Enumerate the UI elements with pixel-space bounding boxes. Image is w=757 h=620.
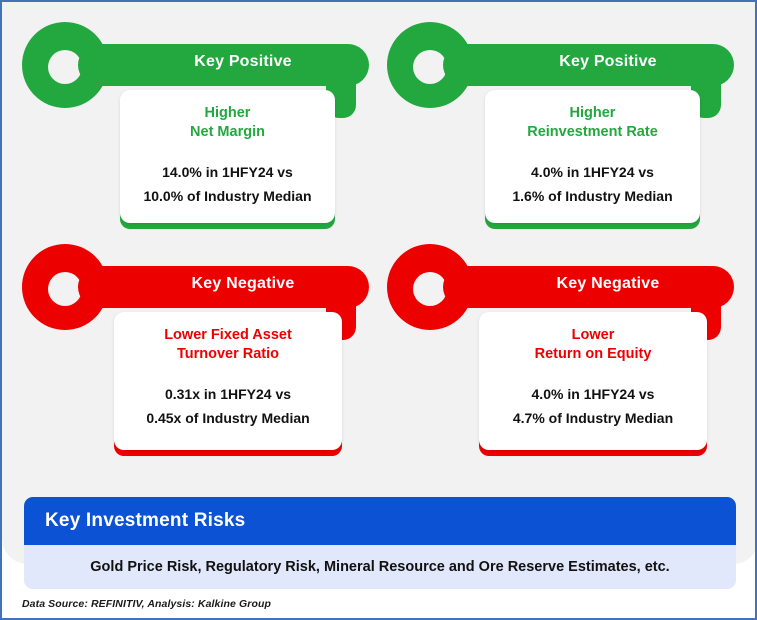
card-body: Lower Fixed Asset Turnover Ratio 0.31x i… (114, 312, 342, 450)
card-stat: 4.0% in 1HFY24 vs 1.6% of Industry Media… (512, 160, 672, 208)
card-title: Key Positive (118, 53, 368, 71)
card-heading: Lower Return on Equity (535, 326, 652, 364)
card-title: Key Negative (483, 275, 733, 293)
key-investment-risks: Key Investment Risks Gold Price Risk, Re… (24, 497, 736, 589)
key-bow-hole (413, 272, 447, 306)
metric-card-reinvestment-rate: Key Positive Higher Reinvestment Rate 4.… (387, 20, 734, 240)
metric-card-return-on-equity: Key Negative Lower Return on Equity 4.0%… (387, 242, 734, 462)
card-heading: Lower Fixed Asset Turnover Ratio (164, 326, 292, 364)
key-bow-shape (387, 22, 473, 108)
card-stat: 0.31x in 1HFY24 vs 0.45x of Industry Med… (146, 382, 309, 430)
risks-body: Gold Price Risk, Regulatory Risk, Minera… (24, 545, 736, 589)
card-stat: 14.0% in 1HFY24 vs 10.0% of Industry Med… (143, 160, 311, 208)
metric-card-net-margin: Key Positive Higher Net Margin 14.0% in … (22, 20, 369, 240)
key-bow-hole (48, 50, 82, 84)
key-bow-hole (48, 272, 82, 306)
card-body: Lower Return on Equity 4.0% in 1HFY24 vs… (479, 312, 707, 450)
card-stat: 4.0% in 1HFY24 vs 4.7% of Industry Media… (513, 382, 673, 430)
key-bow-shape (22, 22, 108, 108)
key-bow-hole (413, 50, 447, 84)
card-heading: Higher Reinvestment Rate (527, 104, 658, 142)
data-source-note: Data Source: REFINITIV, Analysis: Kalkin… (22, 598, 271, 610)
card-title: Key Negative (118, 275, 368, 293)
key-bow-shape (387, 244, 473, 330)
key-bow-shape (22, 244, 108, 330)
risks-header: Key Investment Risks (24, 497, 736, 545)
card-title: Key Positive (483, 53, 733, 71)
card-heading: Higher Net Margin (190, 104, 265, 142)
infographic-root: Key Positive Higher Net Margin 14.0% in … (0, 0, 757, 620)
metric-card-fixed-asset-turnover: Key Negative Lower Fixed Asset Turnover … (22, 242, 369, 462)
card-body: Higher Reinvestment Rate 4.0% in 1HFY24 … (485, 90, 700, 223)
card-body: Higher Net Margin 14.0% in 1HFY24 vs 10.… (120, 90, 335, 223)
